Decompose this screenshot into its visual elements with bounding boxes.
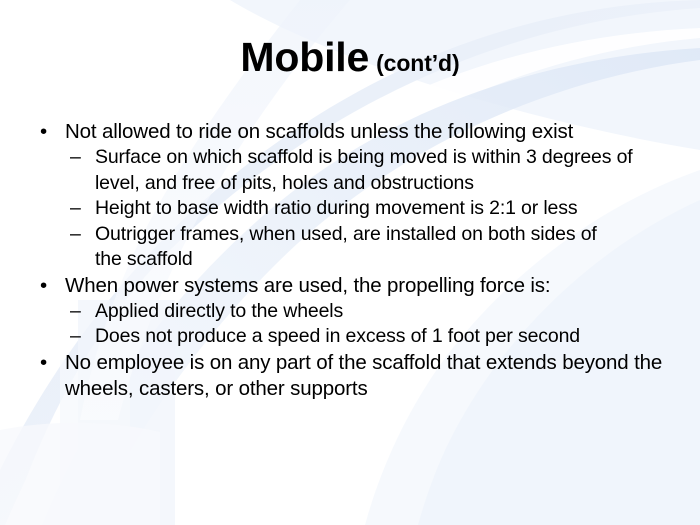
sub-bullet-item: – Height to base width ratio during move… <box>0 196 700 222</box>
slide-title-main: Mobile <box>240 34 369 80</box>
slide-title: Mobile(cont’d) <box>0 37 700 78</box>
bullet-text: When power systems are used, the propell… <box>65 274 550 297</box>
bullet-marker-icon: • <box>40 350 47 376</box>
slide-body: • Not allowed to ride on scaffolds unles… <box>0 119 700 402</box>
dash-marker-icon: – <box>70 299 81 325</box>
dash-marker-icon: – <box>70 324 81 350</box>
presentation-slide: Mobile(cont’d) • Not allowed to ride on … <box>0 0 700 525</box>
sub-bullet-item: – Does not produce a speed in excess of … <box>0 324 700 350</box>
sub-bullet-text: Surface on which scaffold is being moved… <box>95 146 633 194</box>
sub-bullet-text: Applied directly to the wheels <box>95 300 343 322</box>
sub-bullet-item: – Applied directly to the wheels <box>0 299 700 325</box>
sub-bullet-item: – Outrigger frames, when used, are insta… <box>0 222 700 273</box>
bullet-item: • Not allowed to ride on scaffolds unles… <box>0 119 700 145</box>
bullet-marker-icon: • <box>40 119 47 145</box>
sub-bullet-item: – Surface on which scaffold is being mov… <box>0 145 700 196</box>
dash-marker-icon: – <box>70 222 81 248</box>
slide-title-suffix: (cont’d) <box>376 50 460 76</box>
bullet-marker-icon: • <box>40 273 47 299</box>
sub-bullet-text: Height to base width ratio during moveme… <box>95 197 577 219</box>
bullet-text: Not allowed to ride on scaffolds unless … <box>65 120 573 143</box>
bullet-item: • No employee is on any part of the scaf… <box>0 350 700 402</box>
bullet-text: No employee is on any part of the scaffo… <box>65 351 662 400</box>
dash-marker-icon: – <box>70 196 81 222</box>
sub-bullet-text: Does not produce a speed in excess of 1 … <box>95 325 580 347</box>
dash-marker-icon: – <box>70 145 81 171</box>
sub-bullet-text: Outrigger frames, when used, are install… <box>95 223 597 271</box>
bullet-item: • When power systems are used, the prope… <box>0 273 700 299</box>
